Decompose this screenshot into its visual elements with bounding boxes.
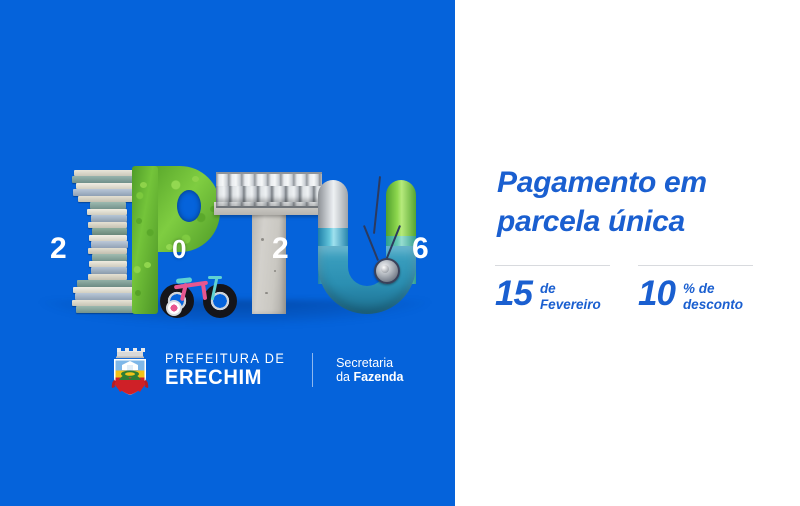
year-digit-1: 2: [50, 234, 67, 264]
discount-number: 10: [638, 278, 675, 310]
discount-label: % de desconto: [683, 278, 743, 314]
erechim-coat-of-arms-icon: [108, 344, 152, 396]
letter-u-pipe: [318, 180, 416, 314]
fact-discount: 10 % de desconto: [638, 265, 798, 314]
prefeitura-logo-lockup: PREFEITURA DE ERECHIM Secretaria da Faze…: [108, 344, 403, 396]
year-digit-2: 0: [172, 236, 186, 262]
prefeitura-wordmark: PREFEITURA DE ERECHIM: [165, 352, 293, 389]
headline-line-2: parcela única: [497, 202, 777, 241]
fact-due-date: 15 de Fevereiro: [495, 265, 638, 314]
due-date-label-line2: Fevereiro: [540, 297, 601, 312]
discount-label-line1: % de: [683, 281, 715, 296]
artwork-panel: 2 0 2 6: [0, 0, 455, 506]
discount-label-line2: desconto: [683, 297, 743, 312]
facts-row: 15 de Fevereiro 10 % de desconto: [495, 265, 798, 314]
child-bicycle-icon: [158, 268, 236, 314]
hedge-stem: [132, 166, 158, 314]
logo-divider: [312, 353, 313, 387]
secretaria-sub: da Fazenda: [336, 370, 403, 384]
prefeitura-label: PREFEITURA DE: [165, 352, 285, 366]
erechim-label: ERECHIM: [165, 367, 288, 388]
bicycle-training-wheel: [166, 300, 182, 316]
roof-tiles-lower: [216, 186, 322, 202]
secretaria-da-label: da: [336, 370, 353, 384]
due-date-number: 15: [495, 278, 532, 310]
bicycle-wheel-front: [203, 284, 237, 318]
year-digit-3: 2: [272, 234, 289, 264]
secretaria-label: Secretaria: [336, 356, 403, 370]
hedge-counter-hole: [177, 190, 201, 222]
year-digit-4: 6: [412, 234, 429, 264]
stethoscope-chestpiece-icon: [374, 258, 400, 284]
message-panel: Pagamento em parcela única 15 de Feverei…: [455, 0, 800, 506]
stethoscope-tube: [373, 176, 381, 234]
due-date-label: de Fevereiro: [540, 278, 601, 314]
due-date-label-line1: de: [540, 281, 556, 296]
campaign-banner: 2 0 2 6: [0, 0, 800, 506]
headline: Pagamento em parcela única: [497, 163, 777, 241]
fazenda-label: Fazenda: [353, 370, 403, 384]
headline-line-1: Pagamento em: [497, 163, 777, 202]
secretaria-wordmark: Secretaria da Fazenda: [336, 356, 403, 384]
